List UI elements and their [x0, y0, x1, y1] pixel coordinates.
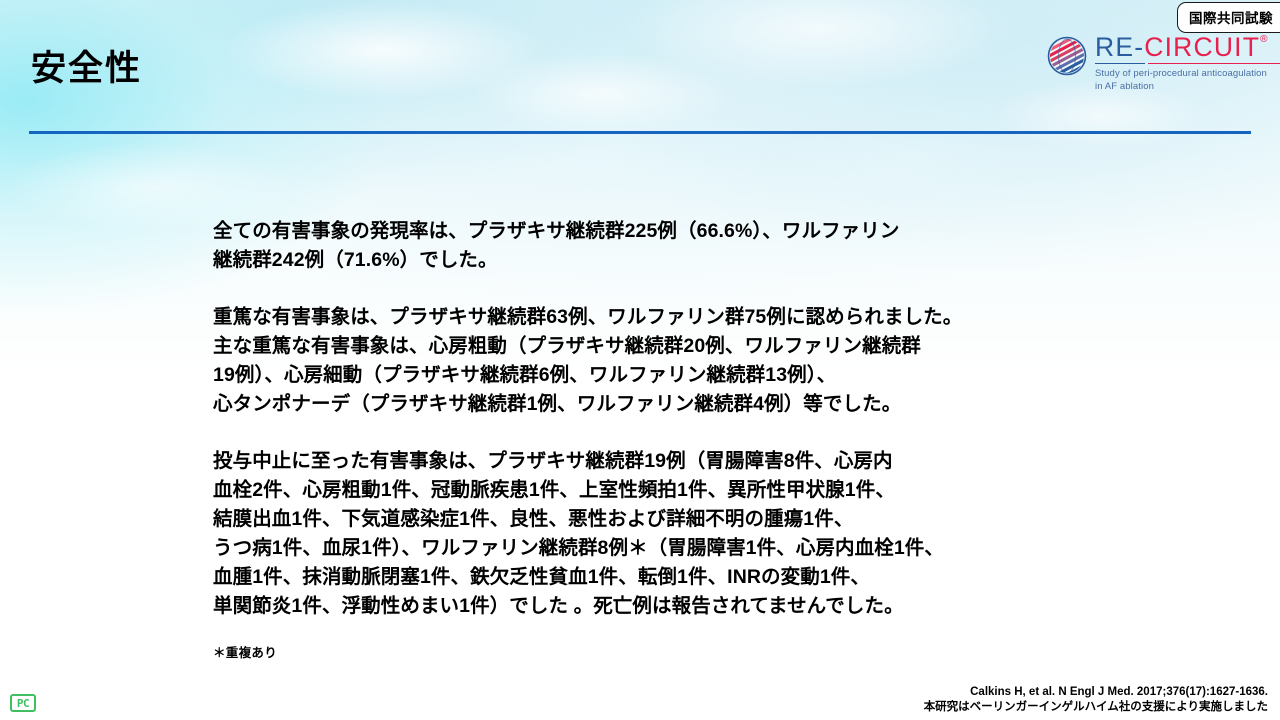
page-title: 安全性	[31, 50, 142, 89]
body-content: 全ての有害事象の発現率は、プラザキサ継続群225例（66.6%）、ワルファリン …	[213, 217, 1223, 621]
citation: Calkins H, et al. N Engl J Med. 2017;376…	[924, 685, 1268, 714]
title-divider	[29, 131, 1251, 134]
text-line: 19例）、心房細動（プラザキサ継続群6例、ワルファリン継続群13例）、	[213, 361, 1223, 390]
paragraph-discontinuation-adverse-events: 投与中止に至った有害事象は、プラザキサ継続群19例（胃腸障害8件、心房内 血栓2…	[213, 447, 1223, 621]
text-line: 単関節炎1件、浮動性めまい1件）でした 。死亡例は報告されてませんでした。	[213, 592, 1223, 621]
footnote: ＊重複あり	[213, 642, 277, 661]
text-line: 心タンポナーデ（プラザキサ継続群1例、ワルファリン継続群4例）等でした。	[213, 390, 1223, 419]
logo-underline-blue	[1095, 63, 1145, 65]
registered-mark-icon: ®	[1260, 35, 1269, 45]
paragraph-overall-adverse-events: 全ての有害事象の発現率は、プラザキサ継続群225例（66.6%）、ワルファリン …	[213, 217, 1223, 275]
text-line: 継続群242例（71.6%）でした。	[213, 246, 1223, 275]
logo-word-circuit: CIRCUIT	[1144, 34, 1260, 61]
text-line: 全ての有害事象の発現率は、プラザキサ継続群225例（66.6%）、ワルファリン	[213, 217, 1223, 246]
text-line: 投与中止に至った有害事象は、プラザキサ継続群19例（胃腸障害8件、心房内	[213, 447, 1223, 476]
re-circuit-emblem-icon	[1046, 35, 1088, 77]
status-badge: 国際共同試験	[1177, 2, 1280, 33]
pc-logo-icon: PC	[10, 694, 36, 712]
citation-funding-note: 本研究はベーリンガーインゲルハイム社の支援により実施しました	[924, 700, 1268, 715]
text-line: 血腫1件、抹消動脈閉塞1件、鉄欠乏性貧血1件、転倒1件、INRの変動1件、	[213, 563, 1223, 592]
slide-canvas: 安全性 国際共同試験 RE- C	[0, 0, 1280, 720]
logo-word-re: RE-	[1095, 34, 1144, 61]
logo-tagline-line2: in AF ablation	[1095, 81, 1154, 92]
text-line: 主な重篤な有害事象は、心房粗動（プラザキサ継続群20例、ワルファリン継続群	[213, 332, 1223, 361]
paragraph-serious-adverse-events: 重篤な有害事象は、プラザキサ継続群63例、ワルファリン群75例に認められました。…	[213, 303, 1223, 419]
text-line: うつ病1件、血尿1件）、ワルファリン継続群8例＊（胃腸障害1件、心房内血栓1件、	[213, 534, 1223, 563]
logo-underline-rules	[1095, 63, 1280, 65]
citation-reference: Calkins H, et al. N Engl J Med. 2017;376…	[924, 685, 1268, 700]
logo-underline-red	[1148, 63, 1280, 65]
text-line: 結膜出血1件、下気道感染症1件、良性、悪性および詳細不明の腫瘍1件、	[213, 505, 1223, 534]
text-line: 重篤な有害事象は、プラザキサ継続群63例、ワルファリン群75例に認められました。	[213, 303, 1223, 332]
re-circuit-logo: RE- CIRCUIT ® Study of peri-procedural a…	[1046, 33, 1280, 93]
logo-tagline: Study of peri-procedural anticoagulation…	[1095, 68, 1280, 93]
logo-tagline-line1: Study of peri-procedural anticoagulation	[1095, 68, 1267, 79]
text-line: 血栓2件、心房粗動1件、冠動脈疾患1件、上室性頻拍1件、異所性甲状腺1件、	[213, 476, 1223, 505]
